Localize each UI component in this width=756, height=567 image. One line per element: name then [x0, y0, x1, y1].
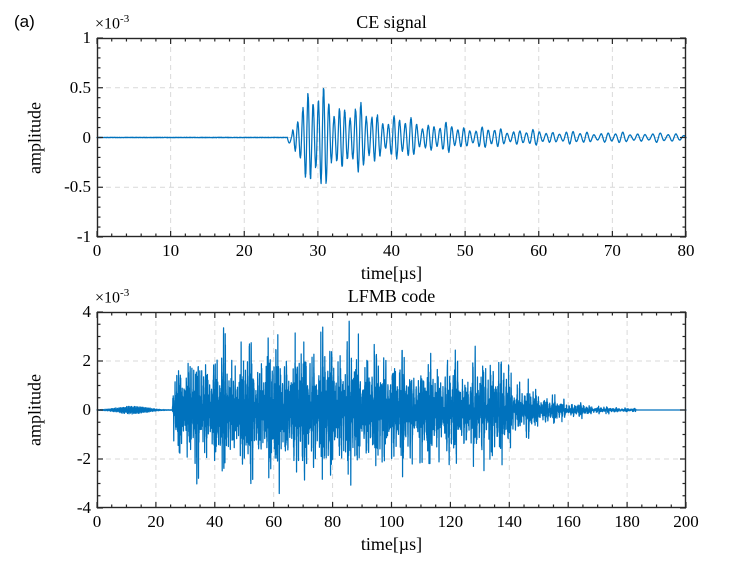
y-exponent-label-lfmb-code: ×10-3	[95, 287, 129, 307]
chart-title-ce-signal: CE signal	[97, 12, 686, 33]
x-tick-label: 0	[93, 512, 102, 532]
x-tick-label: 70	[604, 241, 621, 261]
x-tick-label: 120	[438, 512, 464, 532]
panel-label-a: (a)	[14, 12, 35, 32]
x-tick-label: 180	[614, 512, 640, 532]
y-axis-label-lfmb-code: amplitude	[25, 374, 46, 446]
x-tick-label: 80	[324, 512, 341, 532]
y-exponent-power: -3	[120, 13, 129, 25]
y-tick-label: 1	[83, 28, 92, 48]
figure-root: (a) CE signal ×10-3 time[µs] amplitude 0…	[0, 0, 756, 567]
x-tick-label: 100	[379, 512, 405, 532]
chart-title-lfmb-code: LFMB code	[97, 286, 686, 307]
x-tick-label: 0	[93, 241, 102, 261]
x-tick-label: 140	[497, 512, 523, 532]
y-exponent-label-ce-signal: ×10-3	[95, 13, 129, 33]
y-tick-label: 0.5	[70, 78, 91, 98]
x-tick-label: 60	[265, 512, 282, 532]
x-tick-label: 10	[162, 241, 179, 261]
chart-lfmb-code: LFMB code ×10-3 time[µs] amplitude 02040…	[97, 312, 686, 508]
axes-ce-signal	[97, 38, 686, 237]
x-tick-label: 20	[147, 512, 164, 532]
y-tick-label: 4	[83, 302, 92, 322]
y-tick-label: 2	[83, 351, 92, 371]
y-tick-label: -0.5	[64, 177, 91, 197]
x-tick-label: 50	[457, 241, 474, 261]
y-axis-label-ce-signal: amplitude	[25, 102, 46, 174]
x-tick-label: 40	[206, 512, 223, 532]
x-axis-label-ce-signal: time[µs]	[361, 263, 422, 284]
x-tick-label: 80	[678, 241, 695, 261]
x-tick-label: 20	[236, 241, 253, 261]
y-exponent-mantissa: ×10	[95, 15, 120, 32]
y-tick-label: 0	[83, 128, 92, 148]
y-tick-label: -4	[77, 498, 91, 518]
y-exponent-mantissa: ×10	[95, 289, 120, 306]
y-exponent-power: -3	[120, 287, 129, 299]
y-tick-label: -1	[77, 227, 91, 247]
x-tick-label: 200	[673, 512, 699, 532]
x-tick-label: 30	[309, 241, 326, 261]
y-tick-label: 0	[83, 400, 92, 420]
x-tick-label: 40	[383, 241, 400, 261]
axes-lfmb-code	[97, 312, 686, 508]
chart-ce-signal: CE signal ×10-3 time[µs] amplitude 01020…	[97, 38, 686, 237]
x-axis-label-lfmb-code: time[µs]	[361, 534, 422, 555]
y-tick-label: -2	[77, 449, 91, 469]
x-tick-label: 160	[555, 512, 581, 532]
x-tick-label: 60	[530, 241, 547, 261]
